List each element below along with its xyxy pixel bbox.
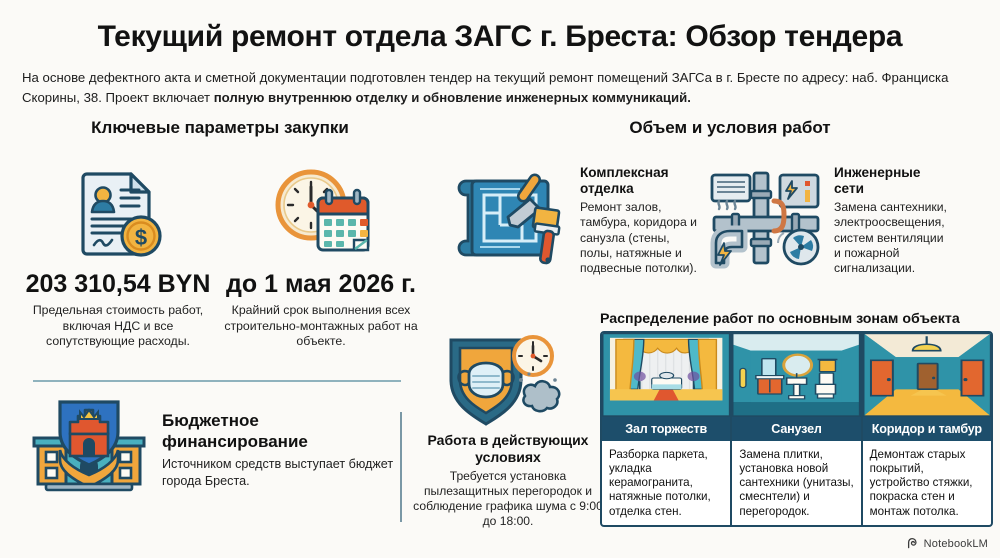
zone-column-corridor: Коридор и тамбур Демонтаж старых покрыти…	[863, 333, 991, 525]
feature-finishing-text: Комплексная отделка Ремонт залов, тамбур…	[580, 165, 697, 276]
budget-title: Бюджетное финансирование	[162, 410, 395, 452]
contract-document-with-coin-icon: $	[18, 158, 218, 268]
kpi-cost-description: Предельная стоимость работ, включая НДС …	[18, 303, 218, 350]
bathroom-illustration	[732, 333, 860, 417]
zone-works-ceremony-hall: Разборка паркета, укладка керамогранита,…	[602, 441, 730, 525]
section-heading-zones: Распределение работ по основным зонам об…	[600, 311, 995, 327]
kpi-cost-value: 203 310,54 BYN	[18, 270, 218, 299]
zone-header-bathroom: Санузел	[732, 417, 860, 441]
section-heading-scope: Объем и условия работ	[470, 118, 990, 138]
kpi-deadline-description: Крайний срок выполнения всех строительно…	[218, 303, 424, 350]
budget-description: Источником средств выступает бюджет горо…	[162, 456, 395, 489]
notebooklm-label: NotebookLM	[924, 538, 988, 550]
notebooklm-logo-icon	[907, 537, 920, 550]
blueprint-trowel-paintbrush-icon	[452, 165, 570, 274]
horizontal-divider	[33, 380, 401, 382]
feature-finishing-description: Ремонт залов, тамбура, коридора и санузл…	[580, 200, 697, 276]
kpi-deadline: до 1 мая 2026 г. Крайний срок выполнения…	[218, 158, 424, 350]
feature-complex-finishing: Комплексная отделка Ремонт залов, тамбур…	[452, 165, 697, 276]
zone-works-corridor: Демонтаж старых покрытий, устройство стя…	[863, 441, 991, 525]
zone-header-corridor: Коридор и тамбур	[863, 417, 991, 441]
section-heading-procurement: Ключевые параметры закупки	[0, 118, 440, 138]
feature-engineering-text: Инженерные сети Замена сантехники, элект…	[834, 165, 952, 276]
zone-works-bathroom: Замена плитки, установка новой сантехник…	[732, 441, 860, 525]
kpi-deadline-value: до 1 мая 2026 г.	[218, 270, 424, 299]
city-hall-brest-coat-of-arms-icon	[30, 398, 148, 499]
vertical-divider	[400, 412, 402, 522]
budget-financing-block: Бюджетное финансирование Источником сред…	[30, 398, 395, 499]
clock-calendar-icon	[218, 158, 424, 268]
zone-works-table: Зал торжеств Разборка паркета, укладка к…	[600, 331, 993, 527]
feature-finishing-title: Комплексная отделка	[580, 165, 697, 197]
page-subtitle: На основе дефектного акта и сметной доку…	[22, 68, 978, 107]
notebooklm-watermark: NotebookLM	[907, 537, 988, 550]
kpi-cost: $ 203 310,54 BYN Предельная стоимость ра…	[18, 158, 218, 350]
budget-text: Бюджетное финансирование Источником сред…	[162, 398, 395, 489]
feature-engineering-description: Замена сантехники, электроосвещения, сис…	[834, 200, 952, 276]
zone-header-ceremony-hall: Зал торжеств	[602, 417, 730, 441]
conditions-description: Требуется установка пылезащитных перегор…	[408, 469, 608, 529]
working-conditions-block: Работа в действующих условиях Требуется …	[408, 336, 608, 529]
conditions-title: Работа в действующих условиях	[408, 432, 608, 466]
pipes-electrical-panel-fan-icon	[708, 165, 824, 274]
page-title: Текущий ремонт отдела ЗАГС г. Бреста: Об…	[0, 20, 1000, 54]
corridor-illustration	[863, 333, 991, 417]
ceremony-hall-illustration	[602, 333, 730, 417]
zone-column-bathroom: Санузел Замена плитки, установка новой с…	[732, 333, 862, 525]
subtitle-emphasis: полную внутреннюю отделку и обновление и…	[214, 90, 691, 105]
shield-mask-clock-dust-icon	[408, 336, 608, 428]
feature-engineering-title: Инженерные сети	[834, 165, 952, 197]
svg-text:$: $	[135, 225, 147, 250]
zone-column-ceremony-hall: Зал торжеств Разборка паркета, укладка к…	[602, 333, 732, 525]
feature-engineering-networks: Инженерные сети Замена сантехники, элект…	[708, 165, 998, 276]
infographic-page: Текущий ремонт отдела ЗАГС г. Бреста: Об…	[0, 0, 1000, 558]
